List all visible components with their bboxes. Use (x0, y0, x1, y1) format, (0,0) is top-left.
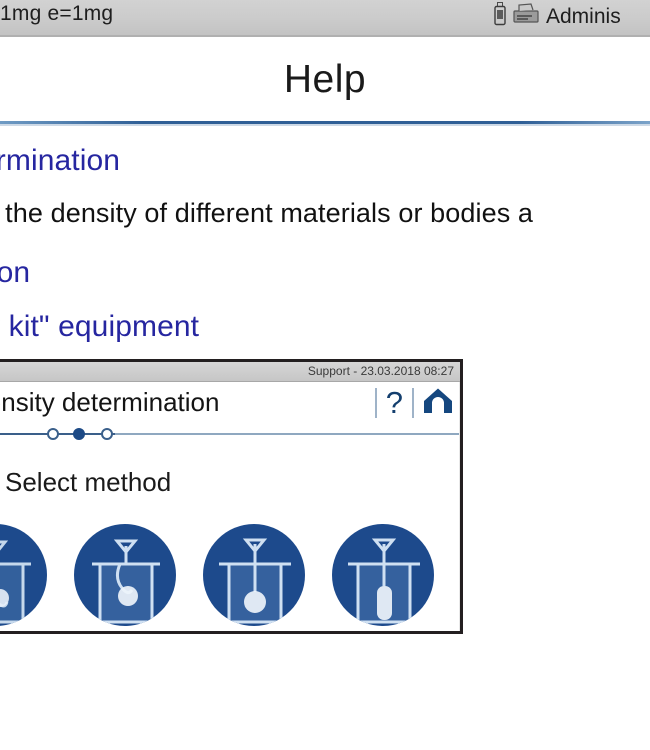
title-bar: Help (0, 37, 650, 122)
embedded-header-actions: ? (375, 385, 453, 421)
method-selector (0, 524, 434, 626)
embedded-status-bar: Support - 23.03.2018 08:27 (0, 362, 460, 382)
method-liquid-plummet[interactable] (332, 524, 434, 626)
embedded-subtitle: Select method (5, 467, 171, 498)
help-content: determination ining the density of diffe… (0, 128, 650, 750)
home-icon[interactable] (423, 387, 453, 419)
printer-icon[interactable] (513, 3, 539, 30)
help-screen: .1mg e=1mg Adminis Help (0, 0, 650, 750)
step-dot-1[interactable] (47, 428, 59, 440)
method-solid-in-beaker-partial[interactable] (0, 524, 47, 626)
embedded-screenshot: Support - 23.03.2018 08:27 Density deter… (0, 359, 463, 634)
step-dot-3[interactable] (101, 428, 113, 440)
usb-stick-icon[interactable] (494, 2, 506, 31)
embedded-page-title: Density determination (0, 387, 219, 418)
embedded-gutter (459, 382, 460, 631)
step-line-remaining (115, 433, 460, 435)
embedded-header: Density determination ? (0, 382, 460, 426)
readability-indicator: .1mg e=1mg (0, 2, 113, 26)
step-dot-2-active[interactable] (73, 428, 85, 440)
paragraph-intro: ining the density of different materials… (0, 198, 533, 229)
title-divider-shadow (0, 124, 650, 126)
help-icon[interactable]: ? (386, 388, 403, 418)
support-timestamp: Support - 23.03.2018 08:27 (308, 364, 454, 378)
user-name: Adminis (546, 5, 621, 29)
separator (412, 388, 414, 418)
step-indicator (0, 426, 460, 442)
separator (375, 388, 377, 418)
heading-application: lication (0, 256, 30, 290)
heading-density-kit-equipment: nsity kit" equipment (0, 310, 199, 344)
method-solid-suspended[interactable] (203, 524, 305, 626)
status-bar-right: Adminis (494, 2, 621, 31)
method-solid-density-hook[interactable] (74, 524, 176, 626)
status-bar: .1mg e=1mg Adminis (0, 0, 650, 37)
page-title: Help (284, 58, 366, 102)
heading-density-determination: determination (0, 144, 120, 178)
